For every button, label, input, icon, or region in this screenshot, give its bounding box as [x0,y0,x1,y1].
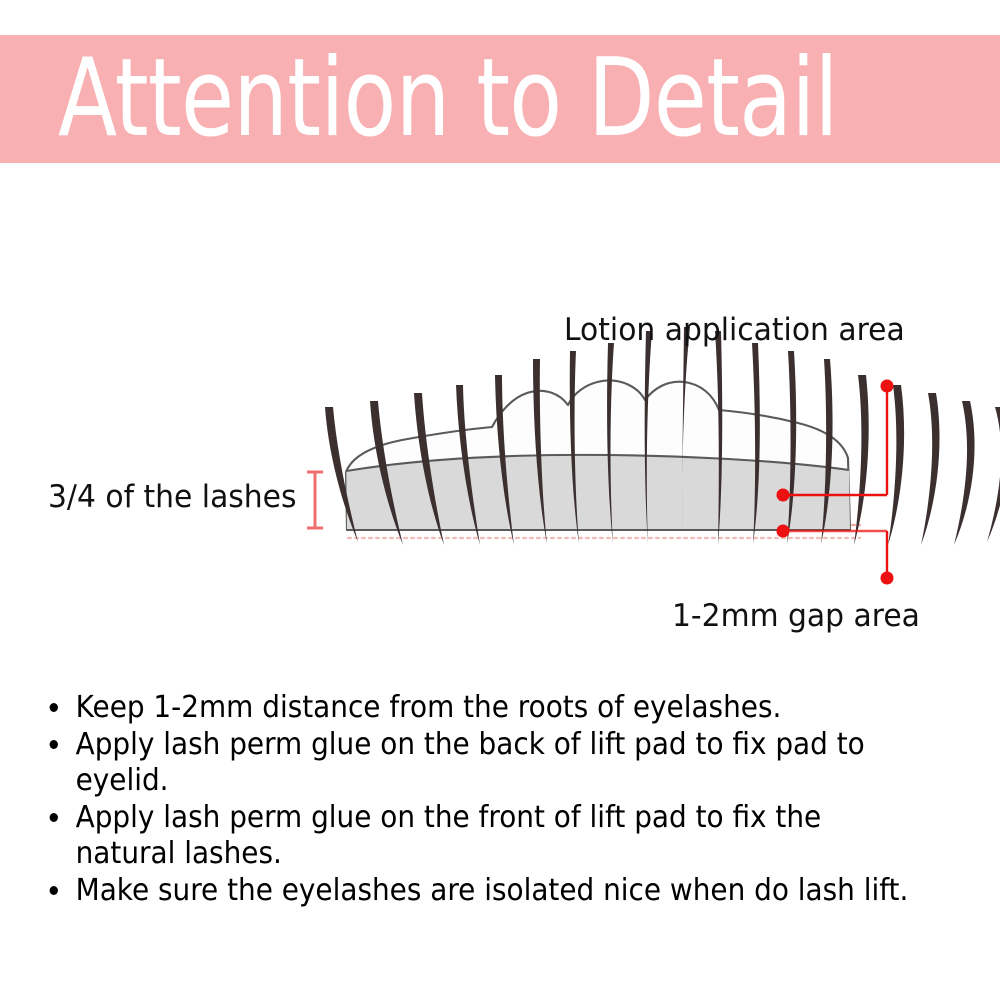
bullet-dot-icon [50,740,58,749]
list-item: Keep 1-2mm distance from the roots of ey… [44,690,909,725]
gap-area-label: 1-2mm gap area [672,598,920,634]
instruction-list: Keep 1-2mm distance from the roots of ey… [44,690,974,910]
three-quarter-lashes-label: 3/4 of the lashes [48,479,296,515]
list-item-text: Keep 1-2mm distance from the roots of ey… [76,690,782,725]
bullet-dot-icon [50,813,58,822]
header-banner: Attention to Detail [0,35,1000,163]
lotion-application-area-label: Lotion application area [564,312,905,348]
bullet-dot-icon [50,703,58,712]
list-item-text: Apply lash perm glue on the front of lif… [76,800,822,870]
page-title: Attention to Detail [58,45,838,153]
list-item-text: Apply lash perm glue on the back of lift… [76,727,865,797]
gap-leader-line [777,525,893,584]
list-item-text: Make sure the eyelashes are isolated nic… [76,873,909,908]
three-quarter-bracket [307,472,323,528]
list-item: Apply lash perm glue on the back of lift… [44,727,909,798]
list-item: Make sure the eyelashes are isolated nic… [44,873,909,908]
list-item: Apply lash perm glue on the front of lif… [44,800,909,871]
bullet-dot-icon [50,886,58,895]
